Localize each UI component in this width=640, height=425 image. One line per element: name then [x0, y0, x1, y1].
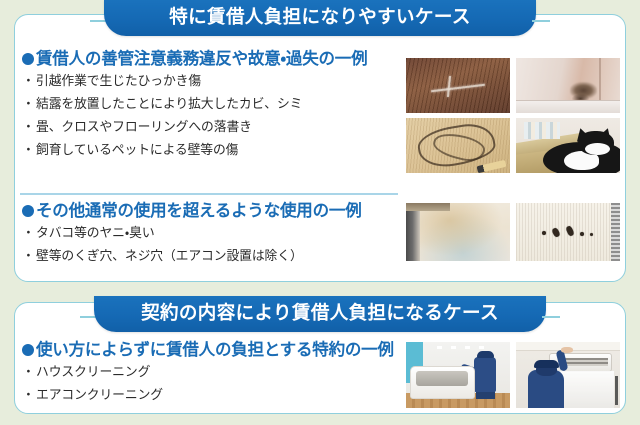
section-special-clause: 使い方によらずに賃借人の負担とする特約の一例 ハウスクリーニング エアコンクリー…: [22, 341, 394, 412]
photo-tatami-scribble: [406, 118, 510, 173]
section-heading-negligence: 賃借人の善管注意義務違反や故意・過失の一例: [22, 50, 367, 68]
list-item: エアコンクリーニング: [22, 389, 394, 402]
banner-body: 特に賃借人負担になりやすいケース: [104, 0, 536, 36]
photo-scratched-flooring: [406, 58, 510, 113]
bullet-list-negligence: 引越作業で生じたひっかき傷 結露を放置したことにより拡大したカビ、シミ 畳、クロ…: [22, 75, 367, 156]
section-heading-special-clause-text: 使い方によらずに賃借人の負担とする特約の一例: [36, 341, 394, 359]
banner-title: 特に賃借人負担になりやすいケース: [169, 8, 470, 28]
photo-nail-screw-holes: [516, 203, 620, 261]
bullet-list-excess-use: タバコ等のヤニ・臭い 壁等のくぎ穴、ネジ穴（エアコン設置は除く）: [22, 227, 362, 263]
section-negligence: 賃借人の善管注意義務違反や故意・過失の一例 引越作業で生じたひっかき傷 結露を放…: [22, 50, 367, 166]
list-item: タバコ等のヤニ・臭い: [22, 227, 362, 240]
section-excess-use: その他通常の使用を超えるような使用の一例 タバコ等のヤニ・臭い 壁等のくぎ穴、ネ…: [22, 202, 362, 273]
bullet-dot-icon: [22, 344, 34, 356]
banner-title: 契約の内容により賃借人負担になるケース: [141, 304, 499, 324]
list-item: 飼育しているペットによる壁等の傷: [22, 144, 367, 157]
bullet-list-special-clause: ハウスクリーニング エアコンクリーニング: [22, 366, 394, 402]
photo-yellowed-wall: [406, 203, 510, 261]
list-item: ハウスクリーニング: [22, 366, 394, 379]
photo-house-cleaning: [406, 342, 510, 408]
section-heading-negligence-text: 賃借人の善管注意義務違反や故意・過失の一例: [36, 50, 367, 68]
banner-tenant-burden-likely: 特に賃借人負担になりやすいケース: [104, 0, 536, 36]
list-item: 引越作業で生じたひっかき傷: [22, 75, 367, 88]
banner-body: 契約の内容により賃借人負担になるケース: [94, 296, 546, 332]
banner-contract-based-burden: 契約の内容により賃借人負担になるケース: [94, 296, 546, 332]
section-heading-excess-use: その他通常の使用を超えるような使用の一例: [22, 202, 362, 220]
section-divider: [20, 193, 398, 195]
list-item: 畳、クロスやフローリングへの落書き: [22, 121, 367, 134]
photo-pet-cat: [516, 118, 620, 173]
section-heading-special-clause: 使い方によらずに賃借人の負担とする特約の一例: [22, 341, 394, 359]
bullet-dot-icon: [22, 205, 34, 217]
photo-aircon-cleaning: [516, 342, 620, 408]
list-item: 壁等のくぎ穴、ネジ穴（エアコン設置は除く）: [22, 250, 362, 263]
photo-wall-corner-mold: [516, 58, 620, 113]
list-item: 結露を放置したことにより拡大したカビ、シミ: [22, 98, 367, 111]
bullet-dot-icon: [22, 53, 34, 65]
section-heading-excess-use-text: その他通常の使用を超えるような使用の一例: [36, 202, 362, 220]
